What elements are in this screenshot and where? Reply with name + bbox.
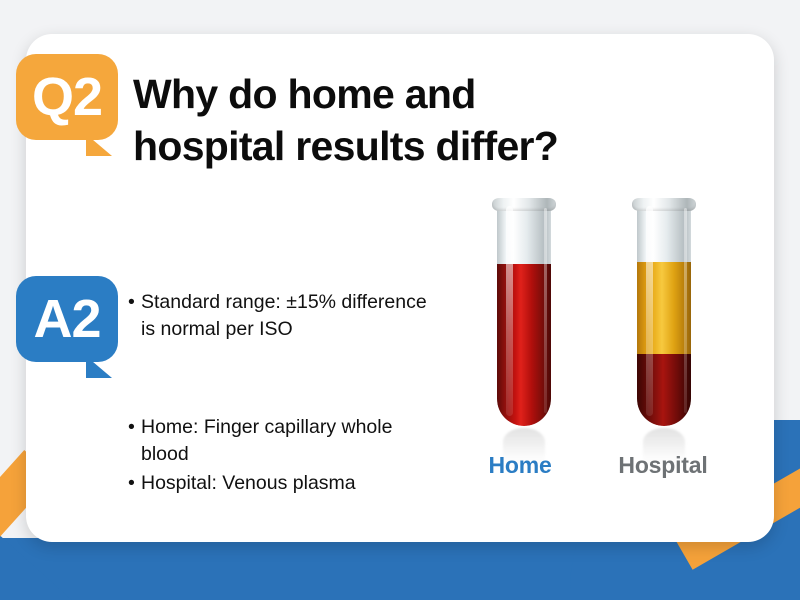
list-item: • Standard range: ±15% difference is nor… bbox=[128, 289, 428, 343]
hospital-tube bbox=[632, 198, 696, 426]
hospital-tube-body bbox=[637, 198, 691, 426]
question-badge-label: Q2 bbox=[16, 54, 118, 140]
home-tube-whole-blood-layer bbox=[497, 264, 551, 426]
list-item-text: Home: Finger capillary whole blood bbox=[141, 414, 428, 468]
list-item-text: Hospital: Venous plasma bbox=[141, 470, 428, 497]
bullet-list-primary: • Standard range: ±15% difference is nor… bbox=[128, 289, 428, 345]
home-tube-glass bbox=[497, 204, 551, 426]
home-tube bbox=[492, 198, 556, 426]
list-item-text: Standard range: ±15% difference is norma… bbox=[141, 289, 428, 343]
hospital-tube-plasma-layer bbox=[637, 262, 691, 354]
slide-root: Q2 Why do home and hospital results diff… bbox=[0, 0, 800, 600]
bullet-dot-icon: • bbox=[128, 470, 141, 497]
answer-badge-label: A2 bbox=[16, 276, 118, 362]
bullet-dot-icon: • bbox=[128, 289, 141, 343]
blue-bottom-band bbox=[0, 538, 800, 600]
list-item: • Hospital: Venous plasma bbox=[128, 470, 428, 497]
bullet-dot-icon: • bbox=[128, 414, 141, 468]
bullet-list-secondary: • Home: Finger capillary whole blood • H… bbox=[128, 414, 428, 499]
hospital-tube-glass bbox=[637, 204, 691, 426]
home-tube-body bbox=[497, 198, 551, 426]
home-tube-rim bbox=[492, 198, 556, 211]
question-badge: Q2 bbox=[16, 54, 118, 140]
hospital-tube-packed-cells-layer bbox=[637, 354, 691, 426]
page-title: Why do home and hospital results differ? bbox=[133, 68, 563, 172]
hospital-tube-rim bbox=[632, 198, 696, 211]
answer-badge: A2 bbox=[16, 276, 118, 362]
hospital-tube-label: Hospital bbox=[578, 452, 748, 479]
list-item: • Home: Finger capillary whole blood bbox=[128, 414, 428, 468]
